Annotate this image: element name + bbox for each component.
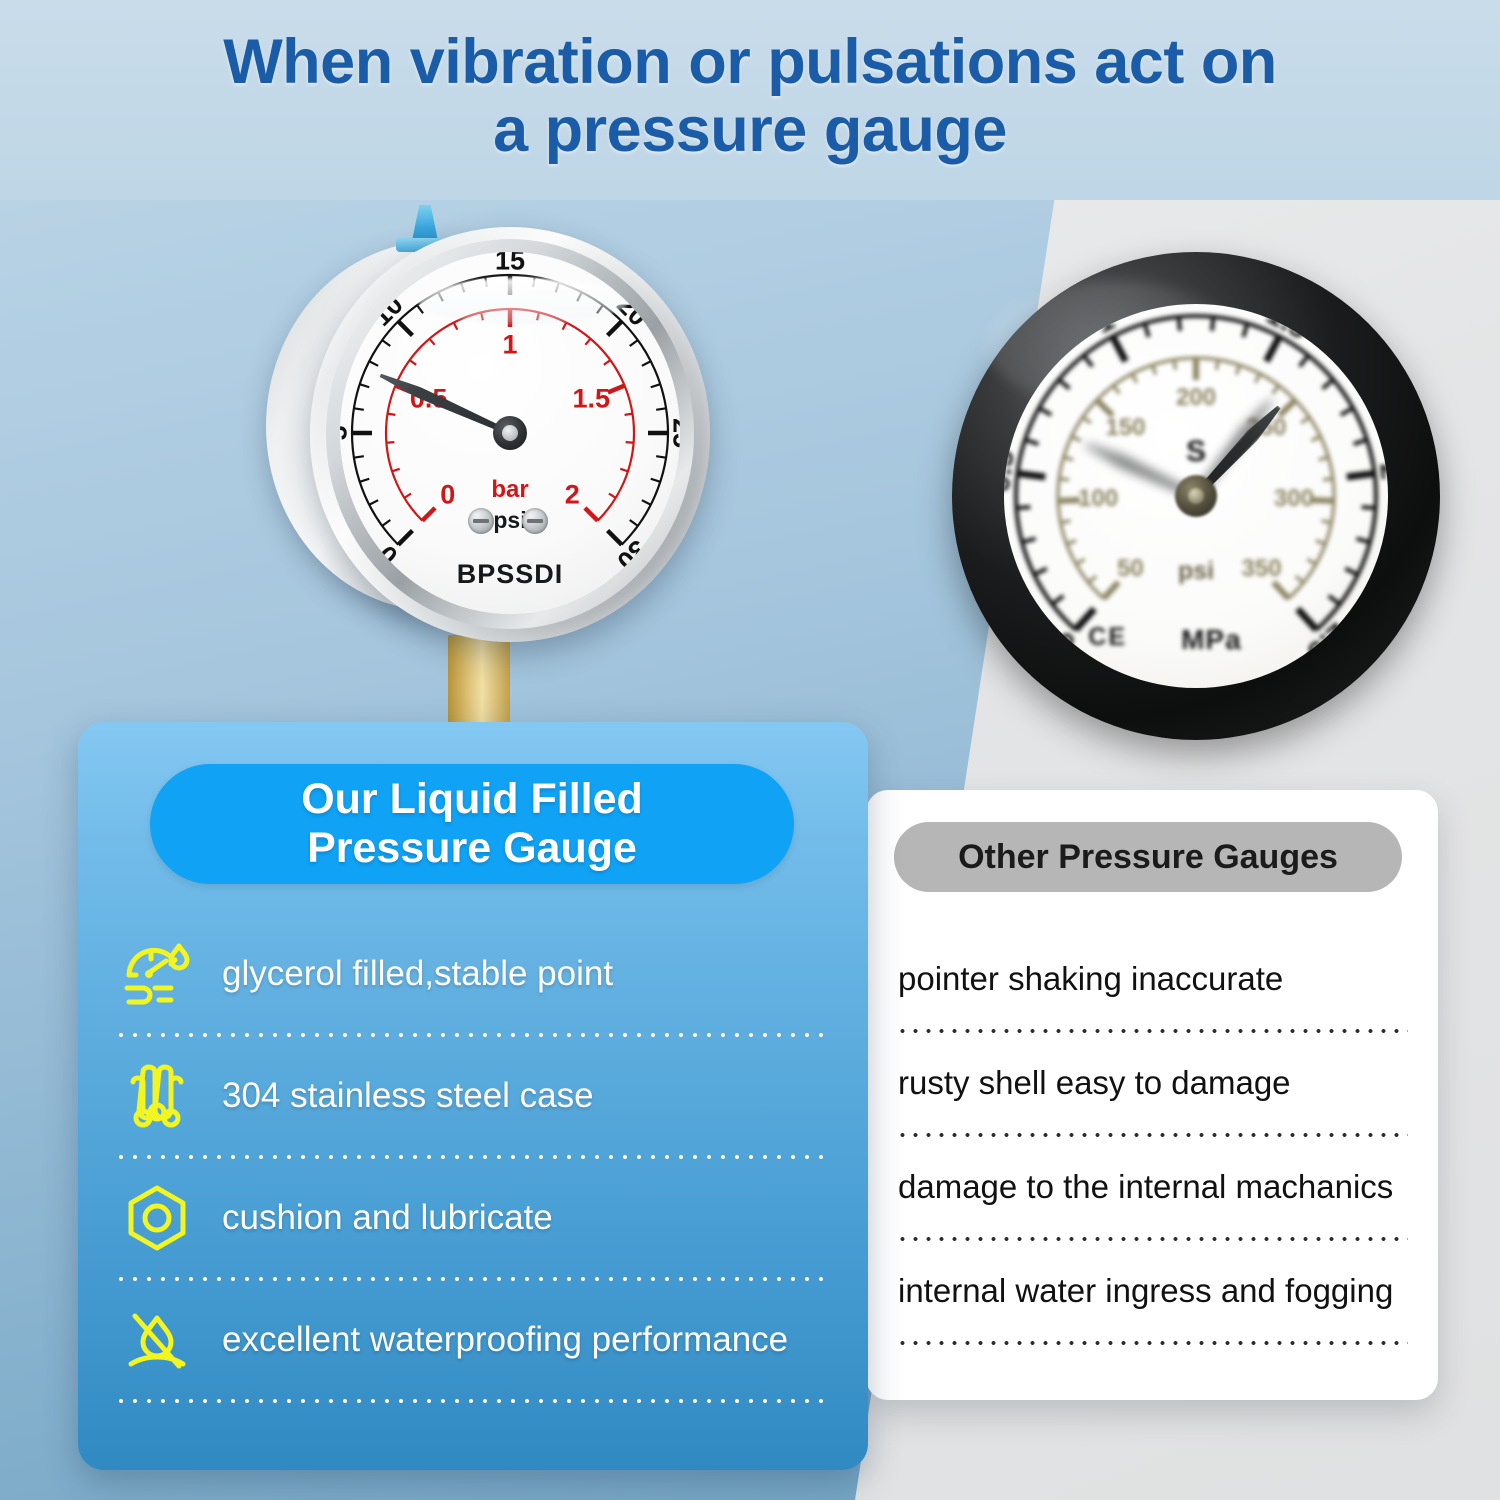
list-separator xyxy=(896,1340,1408,1346)
dial-number: 2 xyxy=(565,480,580,511)
dial-screw-left xyxy=(468,508,494,534)
gauge-right-dial-face: 00.511.522.5 50100150200250300350 S psi … xyxy=(1004,304,1388,688)
blue-vent-plug-icon xyxy=(412,205,438,241)
other-products-badge: Other Pressure Gauges xyxy=(894,822,1402,892)
dial-number: 1.5 xyxy=(573,384,611,415)
list-separator xyxy=(114,1032,832,1038)
list-item: cushion and lubricate xyxy=(102,1162,844,1274)
gauge-left-brand-label: BPSSDI xyxy=(340,559,680,590)
list-item-label: 304 stainless steel case xyxy=(222,1075,594,1116)
list-item-label: glycerol filled,stable point xyxy=(222,953,613,994)
our-product-badge-line-1: Our Liquid Filled xyxy=(301,775,643,824)
other-products-panel: Other Pressure Gauges pointer shaking in… xyxy=(866,790,1438,1400)
gauge-left-needle-hub xyxy=(493,416,527,450)
our-product-panel: Our Liquid Filled Pressure Gauge xyxy=(78,722,868,1470)
gauge-left-unit-bar: bar xyxy=(491,476,528,504)
list-item: pointer shaking inaccurate xyxy=(888,930,1416,1028)
gauge-droplet-icon xyxy=(118,935,196,1013)
list-separator xyxy=(114,1154,832,1160)
dial-number: 0 xyxy=(440,480,455,511)
drawback-list: pointer shaking inaccurate rusty shell e… xyxy=(888,930,1416,1346)
list-separator xyxy=(114,1398,832,1404)
page-title-line-2: a pressure gauge xyxy=(0,96,1500,164)
list-item: internal water ingress and fogging xyxy=(888,1242,1416,1340)
page-title: When vibration or pulsations act on a pr… xyxy=(0,28,1500,164)
page-title-line-1: When vibration or pulsations act on xyxy=(0,28,1500,96)
liquid-filled-gauge-image: 051015202530 00.511.52 bar psi BPSSDI xyxy=(252,205,722,745)
gauge-right-needle-hub xyxy=(1175,475,1217,517)
list-item: damage to the internal machanics xyxy=(888,1138,1416,1236)
dial-number: 15 xyxy=(495,252,525,277)
feature-list: glycerol filled,stable point 304 stainl xyxy=(102,918,844,1406)
list-item-label: damage to the internal machanics xyxy=(898,1168,1393,1206)
gauge-glass-window: 051015202530 00.511.52 bar psi BPSSDI xyxy=(340,252,680,614)
dial-number: 1 xyxy=(502,330,517,361)
dial-number: 25 xyxy=(667,418,681,448)
gauge-glass-glare xyxy=(418,278,628,324)
dial-screw-right xyxy=(522,508,548,534)
our-product-badge: Our Liquid Filled Pressure Gauge xyxy=(150,764,794,884)
list-item: excellent waterproofing performance xyxy=(102,1284,844,1396)
dial-number: 5 xyxy=(340,425,354,440)
hex-nut-icon xyxy=(118,1179,196,1257)
list-item: 304 stainless steel case xyxy=(102,1040,844,1152)
list-item-label: cushion and lubricate xyxy=(222,1197,553,1238)
other-gauge-image: 00.511.522.5 50100150200250300350 S psi … xyxy=(952,252,1440,740)
list-item: rusty shell easy to damage xyxy=(888,1034,1416,1132)
steel-tubes-icon xyxy=(118,1057,196,1135)
list-item-label: excellent waterproofing performance xyxy=(222,1319,788,1360)
list-separator xyxy=(114,1276,832,1282)
no-water-icon xyxy=(118,1301,196,1379)
list-item-label: rusty shell easy to damage xyxy=(898,1064,1291,1102)
list-item-label: internal water ingress and fogging xyxy=(898,1272,1393,1310)
our-product-badge-text: Our Liquid Filled Pressure Gauge xyxy=(279,775,665,872)
list-item: glycerol filled,stable point xyxy=(102,918,844,1030)
infographic-stage: When vibration or pulsations act on a pr… xyxy=(0,0,1500,1500)
list-item-label: pointer shaking inaccurate xyxy=(898,960,1283,998)
other-products-badge-text: Other Pressure Gauges xyxy=(958,838,1338,877)
our-product-badge-line-2: Pressure Gauge xyxy=(301,824,643,873)
